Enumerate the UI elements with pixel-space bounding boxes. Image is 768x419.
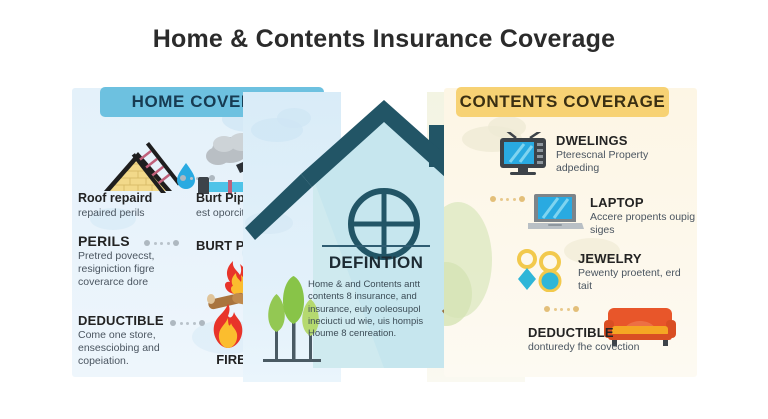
- definition-line-3: insurance, euly ooleosupol: [308, 304, 444, 316]
- item-dwelings: DWELINGS Pterescnal Property adpeding: [556, 134, 676, 175]
- dwelings-subtext: Pterescnal Property adpeding: [556, 149, 676, 175]
- page-title: Home & Contents Insurance Coverage: [0, 25, 768, 54]
- laptop-icon: [528, 192, 584, 234]
- roof-ladder-icon: [98, 133, 203, 193]
- definition-line-5: Houme 8 cenreation.: [308, 328, 444, 340]
- laptop-subtext: Accere propents oupig siges: [590, 211, 700, 237]
- item-jewelry: JEWELRY Pewenty proetent, erd tait: [578, 252, 690, 293]
- perils-subtext: Pretred povecst, resigniction figre cove…: [78, 250, 193, 288]
- jewelry-subtext: Pewenty proetent, erd tait: [578, 267, 690, 293]
- connector-dots-5: [544, 306, 579, 312]
- laptop-heading: LAPTOP: [590, 196, 700, 210]
- dwelings-heading: DWELINGS: [556, 134, 676, 148]
- deductible-contents-subtext: donturedy fhe covection: [528, 341, 648, 354]
- definition-card: DEFINTION Home & and Contents antt conte…: [300, 245, 452, 365]
- definition-line-2: contents 8 insurance, and: [308, 291, 444, 303]
- definition-line-4: ineciucti ud wie, uis hompis: [308, 316, 444, 328]
- television-icon: [498, 132, 550, 176]
- jewelry-earrings-icon: [512, 248, 568, 292]
- definition-rule: [322, 245, 430, 247]
- connector-dots-3: [170, 320, 205, 326]
- definition-body: Home & and Contents antt contents 8 insu…: [300, 279, 452, 341]
- definition-title: DEFINTION: [300, 253, 452, 273]
- infographic-canvas: Home & Contents Insurance Coverage HOME …: [0, 0, 768, 419]
- deductible-contents-heading: DEDUCTIBLE: [528, 326, 648, 340]
- definition-line-1: Home & and Contents antt: [308, 279, 444, 291]
- item-roof-repair: Roof repaird repaired perils: [78, 192, 188, 220]
- roof-repair-heading: Roof repaird: [78, 192, 188, 206]
- roof-repair-subtext: repaired perils: [78, 207, 188, 220]
- item-deductible-contents: DEDUCTIBLE donturedy fhe covection: [528, 326, 648, 354]
- connector-dots-2: [144, 240, 179, 246]
- item-laptop: LAPTOP Accere propents oupig siges: [590, 196, 700, 237]
- deductible-home-subtext: Come one store, ensesciobing and copeiat…: [78, 329, 196, 367]
- bush-decoration-icon: [444, 198, 496, 328]
- connector-dots-4: [490, 196, 525, 202]
- jewelry-heading: JEWELRY: [578, 252, 690, 266]
- contents-coverage-header: CONTENTS COVERAGE: [456, 87, 669, 117]
